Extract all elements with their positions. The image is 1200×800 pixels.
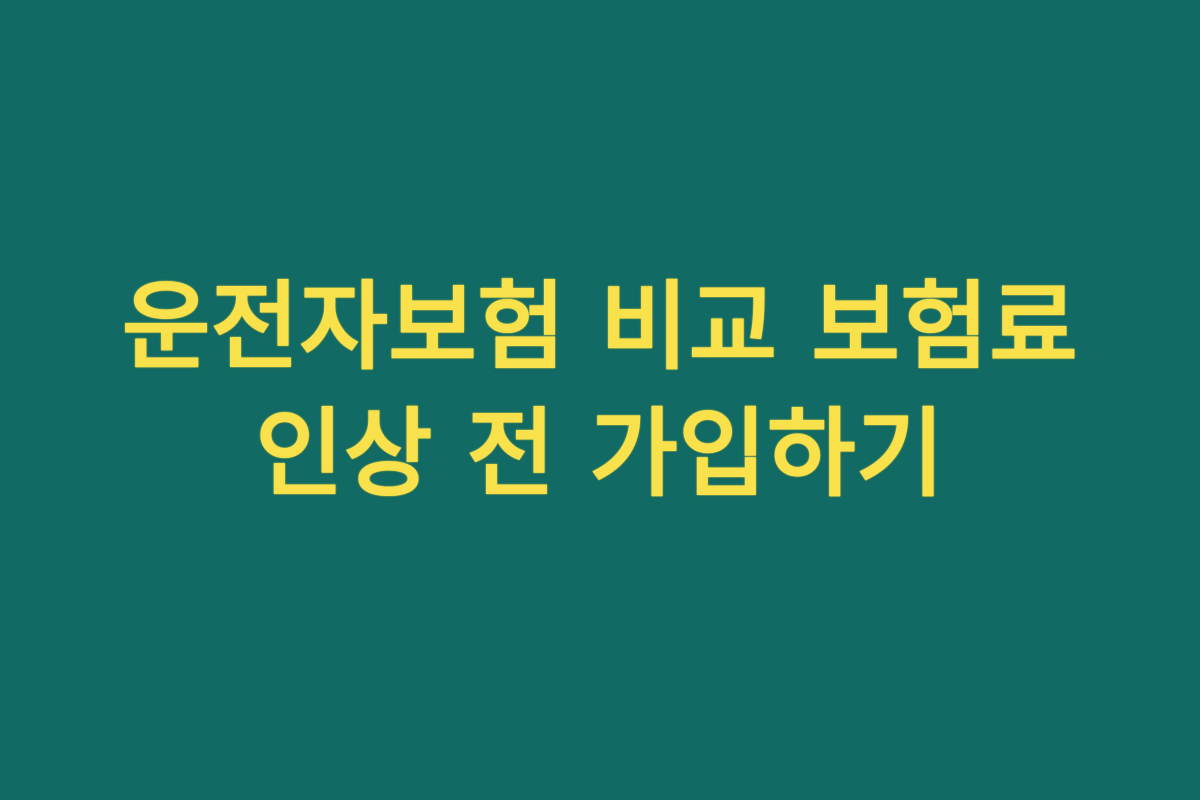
headline-line-2: 인상 전 가입하기 xyxy=(0,391,1200,518)
headline-block: 운전자보험 비교 보험료 인상 전 가입하기 xyxy=(0,264,1200,517)
banner-root: 운전자보험 비교 보험료 인상 전 가입하기 xyxy=(0,0,1200,800)
headline-line-1: 운전자보험 비교 보험료 xyxy=(0,264,1200,391)
